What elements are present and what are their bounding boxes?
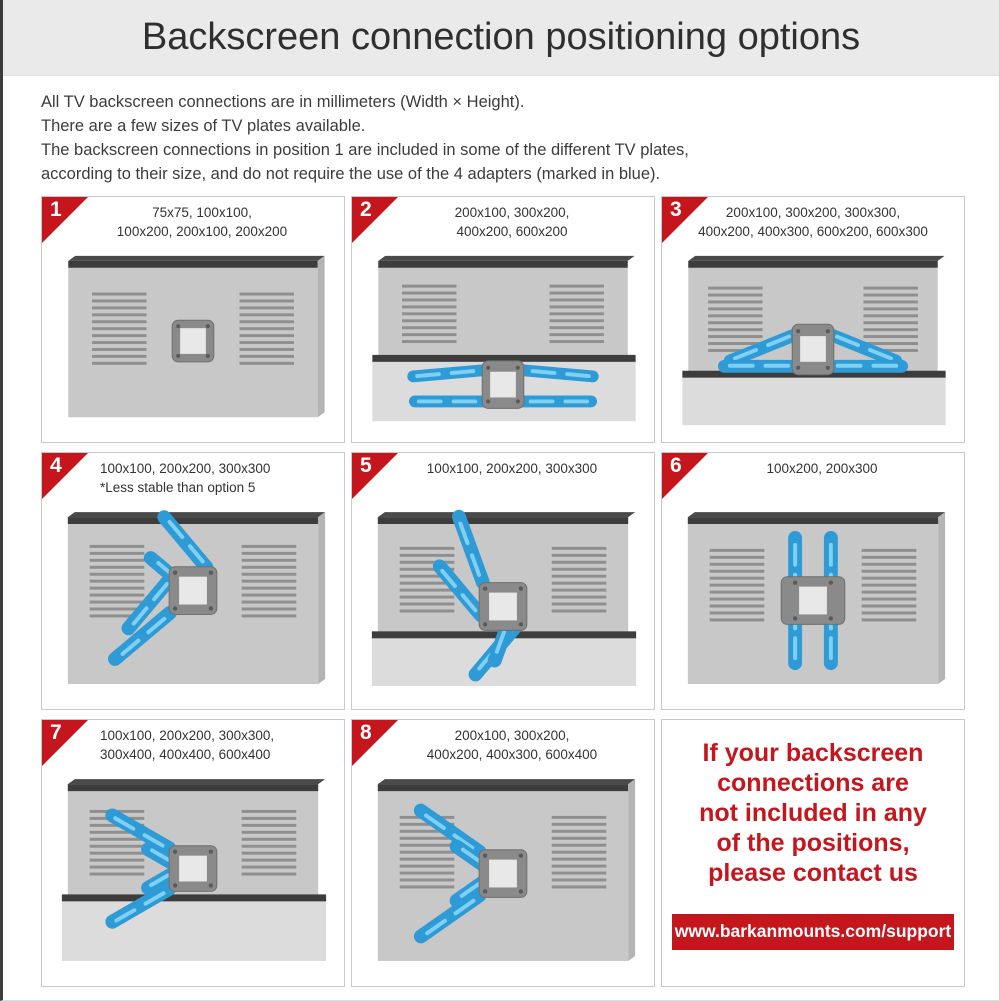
positions-grid: 1 75x75, 100x100, 100x200, 200x100, 200x…	[41, 196, 969, 987]
caption-line-2: 400x200, 600x200	[370, 222, 654, 241]
vesa-plate	[479, 583, 527, 631]
tv-illustration	[352, 505, 654, 709]
contact-message-line-3: not included in any	[699, 798, 927, 828]
panel-number: 1	[50, 198, 62, 222]
contact-message-line-4: of the positions,	[699, 828, 927, 858]
intro-line-2: There are a few sizes of TV plates avail…	[41, 114, 999, 138]
corner-triangle-icon	[42, 720, 88, 766]
position-panel-8[interactable]: 8 200x100, 300x200, 400x200, 400x300, 60…	[351, 719, 655, 987]
tv-illustration	[352, 772, 654, 986]
caption-line-1: 100x100, 200x200, 300x300,	[100, 726, 345, 745]
vesa-plate	[792, 324, 834, 374]
position-panel-2[interactable]: 2 200x100, 300x200, 400x200, 600x200	[351, 196, 655, 443]
page-title: Backscreen connection positioning option…	[142, 16, 860, 59]
caption-line-2: 100x200, 200x100, 200x200	[60, 222, 344, 241]
position-panel-5[interactable]: 5 100x100, 200x200, 300x300	[351, 452, 655, 710]
panel-number: 8	[360, 721, 372, 745]
contact-message: If your backscreen connections are not i…	[691, 738, 935, 888]
tv-illustration	[42, 772, 344, 986]
position-panel-7[interactable]: 7 100x100, 200x200, 300x300, 300x400, 40…	[41, 719, 345, 987]
intro-line-1: All TV backscreen connections are in mil…	[41, 90, 999, 114]
contact-message-line-1: If your backscreen	[699, 738, 927, 768]
panel-number: 7	[50, 721, 62, 745]
caption-line-2: 400x200, 400x300, 600x400	[370, 745, 654, 764]
intro-text-block: All TV backscreen connections are in mil…	[3, 76, 999, 192]
caption-line-1: 200x100, 300x200,	[370, 726, 654, 745]
corner-triangle-icon	[352, 197, 398, 243]
panel-number: 5	[360, 454, 372, 478]
support-url-link[interactable]: www.barkanmounts.com/support	[672, 914, 954, 950]
panel-number: 2	[360, 198, 372, 222]
panel-number: 6	[670, 454, 682, 478]
position-panel-3[interactable]: 3 200x100, 300x200, 300x300, 400x200, 40…	[661, 196, 965, 443]
tv-illustration	[662, 505, 964, 709]
caption-line-1: 75x75, 100x100,	[60, 203, 344, 222]
corner-triangle-icon	[352, 453, 398, 499]
vesa-plate	[479, 850, 527, 898]
caption-line-1: 100x200, 200x300	[680, 459, 964, 478]
vesa-plate	[172, 320, 214, 362]
caption-line-2: 300x400, 400x400, 600x400	[100, 745, 345, 764]
contact-message-line-5: please contact us	[699, 858, 927, 888]
intro-line-4: according to their size, and do not requ…	[41, 162, 999, 186]
corner-triangle-icon	[42, 453, 88, 499]
vesa-plate	[781, 577, 845, 625]
position-panel-1[interactable]: 1 75x75, 100x100, 100x200, 200x100, 200x…	[41, 196, 345, 443]
position-panel-6[interactable]: 6 100x200, 200x300	[661, 452, 965, 710]
vent-grille-left	[402, 285, 456, 343]
infographic-page: Backscreen connection positioning option…	[0, 0, 1000, 1001]
corner-triangle-icon	[662, 197, 708, 243]
position-panel-4[interactable]: 4 100x100, 200x200, 300x300 *Less stable…	[41, 452, 345, 710]
intro-line-3: The backscreen connections in position 1…	[41, 138, 999, 162]
caption-line-1: 100x100, 200x200, 300x300	[100, 459, 345, 478]
contact-panel: If your backscreen connections are not i…	[661, 719, 965, 987]
corner-triangle-icon	[42, 197, 88, 243]
tv-illustration	[352, 249, 654, 442]
vesa-plate	[169, 567, 217, 615]
vent-grille-right	[550, 285, 604, 343]
corner-triangle-icon	[352, 720, 398, 766]
corner-triangle-icon	[662, 453, 708, 499]
tv-illustration	[662, 249, 964, 442]
caption-line-1: 200x100, 300x200,	[370, 203, 654, 222]
panel-number: 4	[50, 454, 62, 478]
contact-message-line-2: connections are	[699, 768, 927, 798]
caption-line-1: 100x100, 200x200, 300x300	[370, 459, 654, 478]
vesa-plate	[169, 846, 217, 892]
page-header: Backscreen connection positioning option…	[3, 0, 999, 76]
tv-illustration	[42, 249, 344, 442]
panel-number: 3	[670, 198, 682, 222]
caption-line-2: *Less stable than option 5	[100, 478, 345, 497]
tv-illustration	[42, 505, 344, 709]
vesa-plate	[482, 361, 524, 409]
